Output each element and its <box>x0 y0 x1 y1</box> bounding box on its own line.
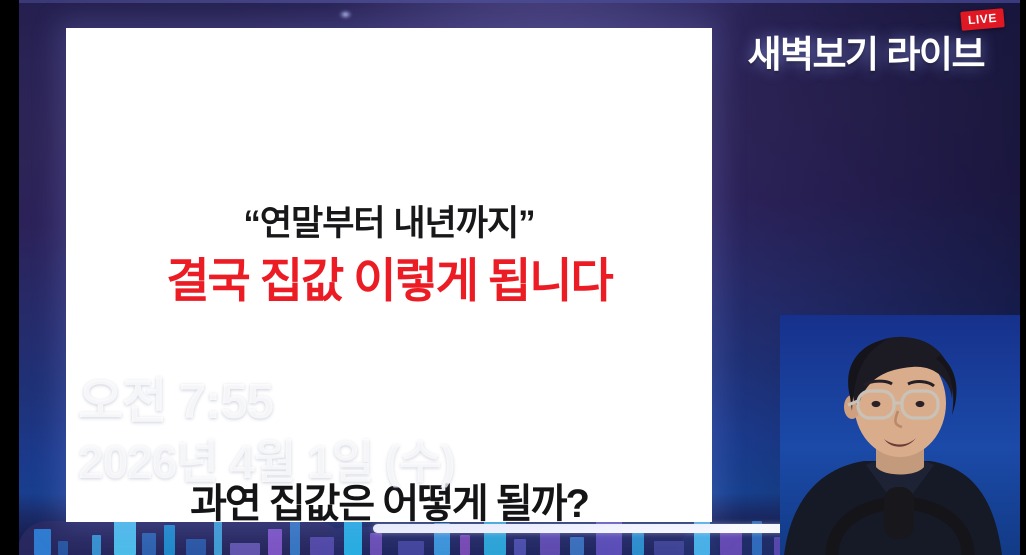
skyline-building <box>58 541 68 555</box>
skyline-building <box>596 517 622 555</box>
skyline-building <box>570 537 584 555</box>
skyline-building <box>164 525 175 555</box>
skyline-building <box>268 529 282 555</box>
skyline-building <box>632 533 644 555</box>
skyline-building <box>142 533 156 555</box>
skyline-building <box>92 535 101 555</box>
skyline-building <box>514 539 526 555</box>
program-title: 새벽보기 라이브 <box>747 24 984 78</box>
live-badge: LIVE <box>960 8 1005 31</box>
slide-headline-group: “연말부터 내년까지” 결국 집값 이렇게 됩니다 <box>66 204 712 307</box>
skyline-building <box>214 521 222 555</box>
letterbox-left <box>0 0 19 555</box>
broadcast-stream-frame: “연말부터 내년까지” 결국 집값 이렇게 됩니다 과연 집값은 어떻게 될까?… <box>0 0 1026 555</box>
skyline-building <box>460 535 470 555</box>
presenter-illustration <box>780 315 1020 555</box>
slide-sub-question: 과연 집값은 어떻게 될까? <box>66 471 712 522</box>
letterbox-right <box>1020 0 1026 555</box>
skyline-building <box>34 529 51 555</box>
presenter-video <box>780 315 1020 555</box>
slide-red-headline: 결국 집값 이렇게 됩니다 <box>66 255 712 307</box>
skyline-building <box>310 537 334 555</box>
skyline-building <box>654 541 684 555</box>
presentation-slide: “연말부터 내년까지” 결국 집값 이렇게 됩니다 과연 집값은 어떻게 될까? <box>66 28 712 522</box>
skyline-building <box>290 519 300 555</box>
skyline-building <box>370 533 382 555</box>
slide-quote-headline: “연말부터 내년까지” <box>66 204 712 243</box>
ceiling-light-icon <box>339 10 352 19</box>
backdrop-top-edge <box>18 0 1026 3</box>
skyline-building <box>230 543 260 555</box>
skyline-building <box>186 539 206 555</box>
skyline-building <box>398 541 424 555</box>
